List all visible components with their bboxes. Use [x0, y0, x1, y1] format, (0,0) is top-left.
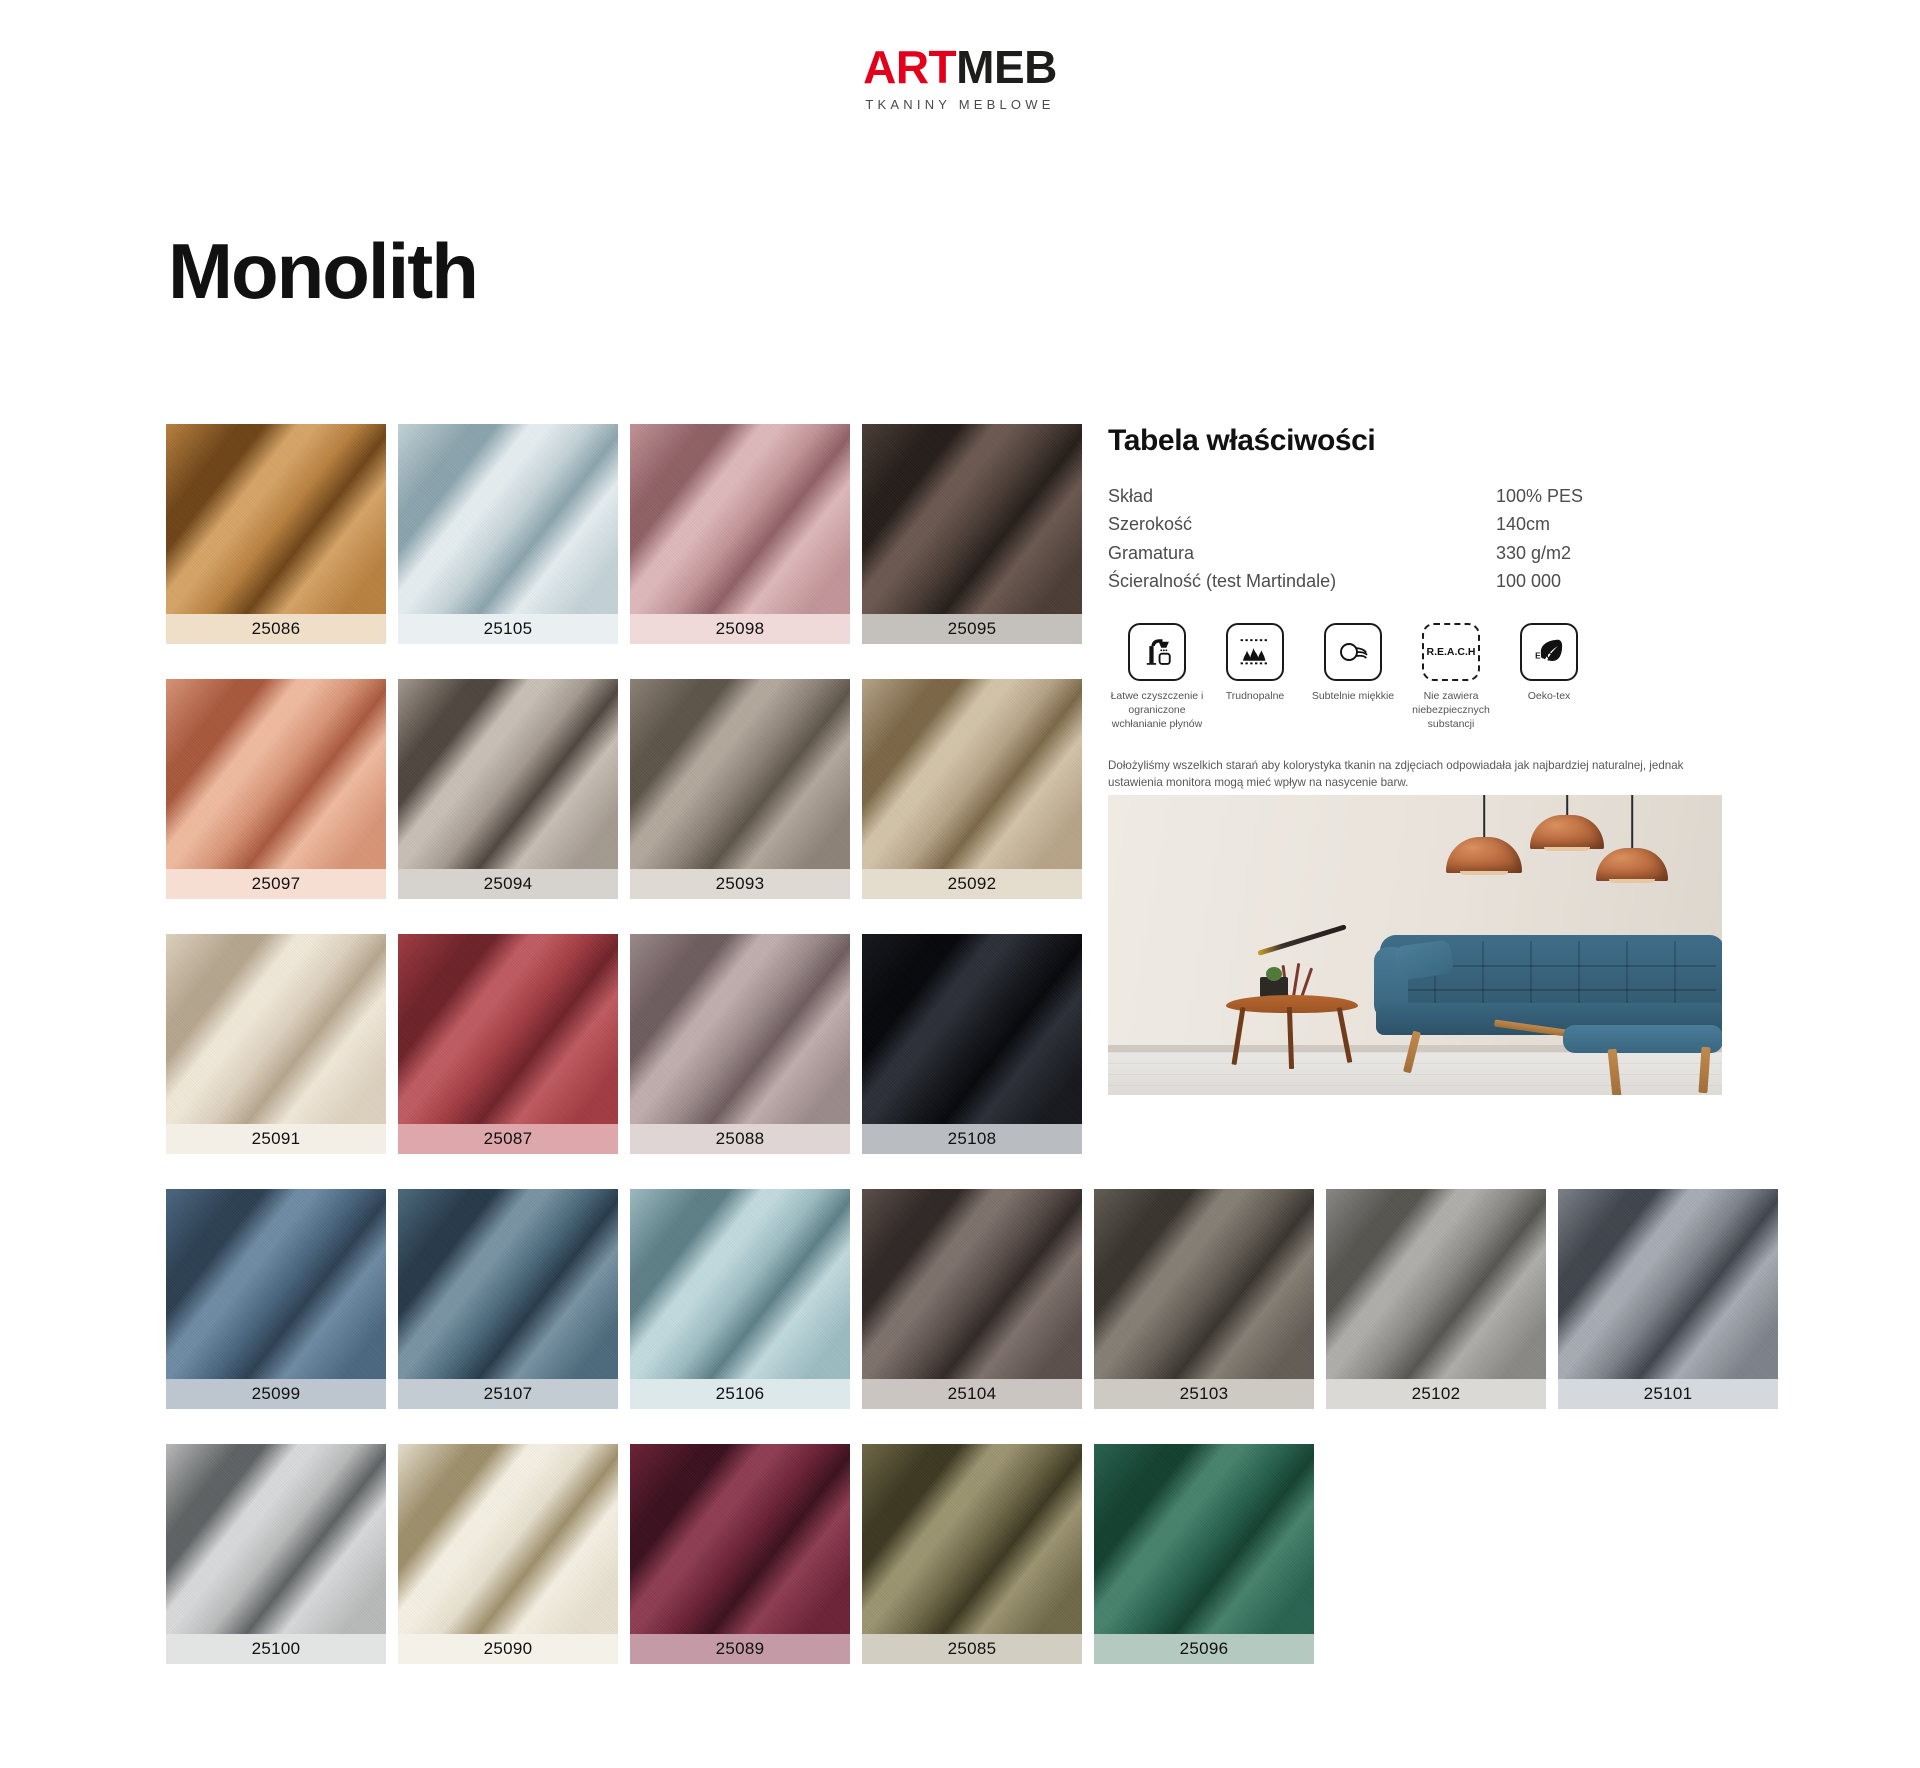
fabric-swatch-image	[166, 1189, 386, 1379]
swatch-code-label: 25086	[166, 614, 386, 644]
svg-text:ECO: ECO	[1535, 652, 1553, 661]
swatch-texture-overlay	[630, 1189, 850, 1379]
swatch-texture-overlay	[1094, 1444, 1314, 1634]
fabric-swatch-image	[166, 1444, 386, 1634]
swatch-texture-overlay	[398, 679, 618, 869]
fabric-swatch[interactable]: 25091	[166, 934, 386, 1154]
swatch-row: 2510025090250892508525096	[166, 1444, 1726, 1664]
fabric-swatch-image	[398, 679, 618, 869]
swatch-texture-overlay	[398, 1444, 618, 1634]
swatch-texture-overlay	[166, 934, 386, 1124]
lamp-shade	[1596, 848, 1668, 881]
property-name: Szerokość	[1108, 512, 1496, 540]
property-value: 140cm	[1496, 512, 1726, 540]
property-row: Ścieralność (test Martindale)100 000	[1108, 569, 1726, 597]
swatch-texture-overlay	[1326, 1189, 1546, 1379]
fabric-swatch-image	[166, 424, 386, 614]
feature-caption: Subtelnie miękkie	[1304, 690, 1402, 704]
fabric-swatch[interactable]: 25103	[1094, 1189, 1314, 1409]
fabric-swatch-image	[862, 679, 1082, 869]
fabric-swatch-image	[398, 1444, 618, 1634]
swatch-code-label: 25097	[166, 869, 386, 899]
fabric-swatch[interactable]: 25095	[862, 424, 1082, 644]
fabric-swatch[interactable]: 25090	[398, 1444, 618, 1664]
swatch-texture-overlay	[630, 424, 850, 614]
fabric-swatch-image	[398, 934, 618, 1124]
property-name: Skład	[1108, 484, 1496, 512]
lamp-cord	[1566, 795, 1568, 817]
swatch-code-label: 25107	[398, 1379, 618, 1409]
fabric-swatch[interactable]: 25092	[862, 679, 1082, 899]
swatch-texture-overlay	[398, 424, 618, 614]
fabric-swatch[interactable]: 25102	[1326, 1189, 1546, 1409]
fabric-swatch-image	[630, 1444, 850, 1634]
fabric-swatch-image	[1094, 1444, 1314, 1634]
feature-caption: Oeko-tex	[1500, 690, 1598, 704]
swatch-code-label: 25099	[166, 1379, 386, 1409]
swatch-texture-overlay	[166, 1444, 386, 1634]
swatch-texture-overlay	[166, 679, 386, 869]
fabric-swatch[interactable]: 25100	[166, 1444, 386, 1664]
living-room-photo	[1108, 795, 1722, 1095]
fabric-swatch-image	[630, 679, 850, 869]
feature-caption: Łatwe czyszczenie i ograniczone wchłania…	[1108, 690, 1206, 732]
swatch-texture-overlay	[862, 934, 1082, 1124]
properties-panel: Tabela właściwości Skład100% PESSzerokoś…	[1108, 424, 1726, 824]
sofa-bench-extension	[1563, 1025, 1722, 1053]
fabric-swatch[interactable]: 25101	[1558, 1189, 1778, 1409]
fabric-swatch-image	[166, 679, 386, 869]
swatch-texture-overlay	[862, 679, 1082, 869]
tuft-line	[1482, 941, 1484, 1003]
lamp-lip	[1544, 847, 1590, 851]
swatch-texture-overlay	[166, 1189, 386, 1379]
feature-item: Trudnopalne	[1206, 623, 1304, 732]
fabric-swatch-image	[398, 424, 618, 614]
tuft-line	[1390, 989, 1716, 991]
tuft-line	[1578, 941, 1580, 1003]
property-name: Gramatura	[1108, 541, 1496, 569]
fabric-swatch[interactable]: 25085	[862, 1444, 1082, 1664]
fabric-swatch[interactable]: 25097	[166, 679, 386, 899]
swatch-code-label: 25089	[630, 1634, 850, 1664]
fabric-swatch[interactable]: 25099	[166, 1189, 386, 1409]
fabric-swatch[interactable]: 25086	[166, 424, 386, 644]
lamp-cord	[1631, 795, 1633, 850]
swatch-code-label: 25085	[862, 1634, 1082, 1664]
eco-leaf-icon: ECO	[1520, 623, 1578, 681]
flame-retardant-icon	[1226, 623, 1284, 681]
swatch-code-label: 25088	[630, 1124, 850, 1154]
property-value: 100% PES	[1496, 484, 1726, 512]
fabric-swatch-image	[862, 424, 1082, 614]
easy-clean-icon	[1128, 623, 1186, 681]
swatch-code-label: 25104	[862, 1379, 1082, 1409]
swatch-code-label: 25095	[862, 614, 1082, 644]
fabric-swatch[interactable]: 25107	[398, 1189, 618, 1409]
fabric-swatch[interactable]: 25094	[398, 679, 618, 899]
swatch-code-label: 25093	[630, 869, 850, 899]
fabric-swatch-image	[862, 1189, 1082, 1379]
swatch-texture-overlay	[630, 934, 850, 1124]
fabric-swatch-image	[630, 934, 850, 1124]
swatch-code-label: 25098	[630, 614, 850, 644]
lamp-lip	[1609, 879, 1655, 883]
tuft-line	[1530, 941, 1532, 1003]
fabric-swatch-image	[166, 934, 386, 1124]
fabric-swatch[interactable]: 25098	[630, 424, 850, 644]
swatch-texture-overlay	[630, 679, 850, 869]
fabric-swatch-image	[398, 1189, 618, 1379]
swatch-code-label: 25102	[1326, 1379, 1546, 1409]
logo-wordmark: ARTMEB	[863, 44, 1057, 90]
logo-meb-text: MEB	[956, 41, 1057, 93]
swatch-texture-overlay	[166, 424, 386, 614]
property-value: 330 g/m2	[1496, 541, 1726, 569]
swatch-code-label: 25094	[398, 869, 618, 899]
swatch-texture-overlay	[1558, 1189, 1778, 1379]
swatch-texture-overlay	[862, 424, 1082, 614]
fabric-swatch[interactable]: 25088	[630, 934, 850, 1154]
swatch-texture-overlay	[398, 934, 618, 1124]
swatch-code-label: 25090	[398, 1634, 618, 1664]
swatch-texture-overlay	[398, 1189, 618, 1379]
feature-item: Łatwe czyszczenie i ograniczone wchłania…	[1108, 623, 1206, 732]
swatch-code-label: 25108	[862, 1124, 1082, 1154]
feature-caption: Trudnopalne	[1206, 690, 1304, 704]
swatch-code-label: 25100	[166, 1634, 386, 1664]
fabric-swatch[interactable]: 25106	[630, 1189, 850, 1409]
cactus	[1266, 967, 1282, 981]
floor	[1108, 1052, 1722, 1095]
pendant-lamp-left	[1446, 795, 1522, 885]
swatch-row: 25099251072510625104251032510225101	[166, 1189, 1726, 1409]
soft-touch-icon	[1324, 623, 1382, 681]
fabric-swatch[interactable]: 25105	[398, 424, 618, 644]
reach-badge-text: R.E.A.C.H	[1426, 646, 1475, 658]
fabric-swatch-image	[630, 1189, 850, 1379]
swatch-texture-overlay	[862, 1189, 1082, 1379]
lamp-shade	[1446, 837, 1522, 873]
swatch-code-label: 25105	[398, 614, 618, 644]
logo-tagline: TKANINY MEBLOWE	[0, 97, 1920, 112]
feature-item: R.E.A.C.HNie zawiera niebezpiecznych sub…	[1402, 623, 1500, 732]
feature-icon-row: Łatwe czyszczenie i ograniczone wchłania…	[1108, 623, 1726, 732]
feature-caption: Nie zawiera niebezpiecznych substancji	[1402, 690, 1500, 732]
fabric-swatch[interactable]: 25087	[398, 934, 618, 1154]
tuft-line	[1626, 941, 1628, 1003]
fabric-swatch-image	[1326, 1189, 1546, 1379]
fabric-swatch[interactable]: 25096	[1094, 1444, 1314, 1664]
swatch-code-label: 25103	[1094, 1379, 1314, 1409]
fabric-swatch-image	[862, 1444, 1082, 1634]
swatch-texture-overlay	[862, 1444, 1082, 1634]
swatch-code-label: 25092	[862, 869, 1082, 899]
feature-item: ECOOeko-tex	[1500, 623, 1598, 732]
property-row: Szerokość140cm	[1108, 512, 1726, 540]
fabric-swatch-image	[1558, 1189, 1778, 1379]
swatch-code-label: 25087	[398, 1124, 618, 1154]
property-row: Gramatura330 g/m2	[1108, 541, 1726, 569]
lamp-cord	[1483, 795, 1485, 839]
fabric-swatch[interactable]: 25104	[862, 1189, 1082, 1409]
swatch-texture-overlay	[630, 1444, 850, 1634]
swatch-code-label: 25101	[1558, 1379, 1778, 1409]
pendant-lamp-center	[1530, 795, 1604, 865]
properties-table: Skład100% PESSzerokość140cmGramatura330 …	[1108, 484, 1726, 597]
swatch-code-label: 25106	[630, 1379, 850, 1409]
swatch-code-label: 25096	[1094, 1634, 1314, 1664]
property-name: Ścieralność (test Martindale)	[1108, 569, 1496, 597]
page-title: Monolith	[168, 232, 477, 310]
feature-item: Subtelnie miękkie	[1304, 623, 1402, 732]
fabric-swatch-image	[630, 424, 850, 614]
reach-icon: R.E.A.C.H	[1422, 623, 1480, 681]
properties-heading: Tabela właściwości	[1108, 424, 1726, 458]
fabric-swatch[interactable]: 25093	[630, 679, 850, 899]
lamp-shade	[1530, 815, 1604, 849]
property-row: Skład100% PES	[1108, 484, 1726, 512]
lamp-lip	[1460, 871, 1508, 875]
swatch-texture-overlay	[1094, 1189, 1314, 1379]
brand-logo: ARTMEB TKANINY MEBLOWE	[0, 44, 1920, 112]
fabric-swatch-image	[1094, 1189, 1314, 1379]
fabric-swatch[interactable]: 25108	[862, 934, 1082, 1154]
fabric-swatch-image	[862, 934, 1082, 1124]
fabric-swatch[interactable]: 25089	[630, 1444, 850, 1664]
property-value: 100 000	[1496, 569, 1726, 597]
swatch-code-label: 25091	[166, 1124, 386, 1154]
tuft-line	[1674, 941, 1676, 1003]
disclaimer-paragraph-1: Dołożyliśmy wszelkich starań aby kolorys…	[1108, 758, 1720, 792]
logo-art-text: ART	[863, 41, 956, 93]
pendant-lamp-right	[1596, 795, 1668, 895]
